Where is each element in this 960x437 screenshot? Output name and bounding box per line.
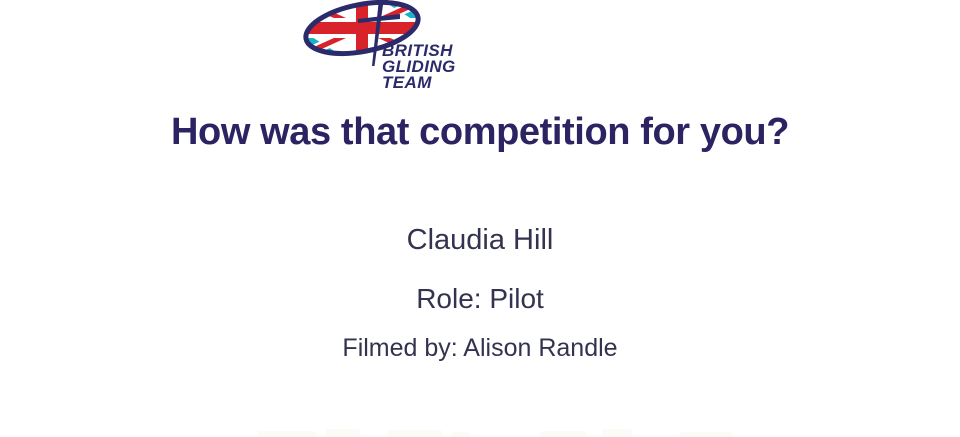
presenter-role: Role: Pilot	[0, 283, 960, 315]
presentation-slide: BRITISH GLIDING TEAM How was that compet…	[0, 0, 960, 437]
page-title: How was that competition for you?	[0, 112, 960, 154]
logo-line-3: TEAM	[382, 73, 432, 92]
logo-wordmark: BRITISH GLIDING TEAM	[382, 41, 456, 92]
footer-sponsor-strip	[0, 423, 960, 437]
filmed-by-credit: Filmed by: Alison Randle	[0, 334, 960, 363]
british-gliding-team-logo-icon: BRITISH GLIDING TEAM	[296, 0, 496, 94]
presenter-name: Claudia Hill	[0, 224, 960, 257]
british-gliding-team-logo: BRITISH GLIDING TEAM	[296, 0, 496, 94]
